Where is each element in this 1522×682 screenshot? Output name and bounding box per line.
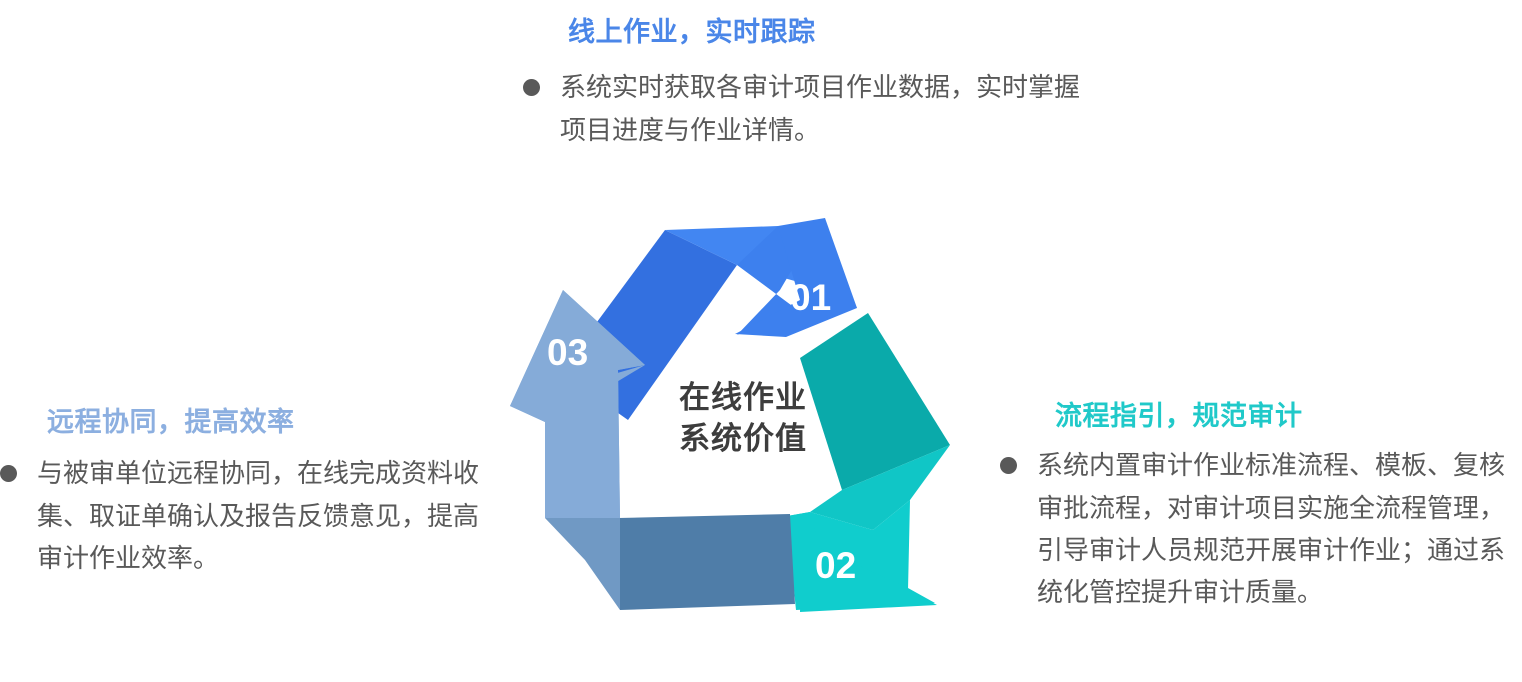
feature-body-row-left: 与被审单位远程协同，在线完成资料收集、取证单确认及报告反馈意见，提高审计作业效率… [0,452,500,578]
feature-title-process-guidance: 流程指引，规范审计 [1055,400,1522,432]
feature-description-online-tracking: 系统实时获取各审计项目作业数据，实时掌握项目进度与作业详情。 [560,66,1083,150]
feature-description-remote-collaboration: 与被审单位远程协同，在线完成资料收集、取证单确认及报告反馈意见，提高审计作业效率… [37,452,500,578]
cycle-arrow-02 [776,313,950,612]
feature-title-remote-collaboration: 远程协同，提高效率 [47,406,500,438]
bullet-dot-icon [1000,457,1017,474]
feature-description-process-guidance: 系统内置审计作业标准流程、模板、复核审批流程，对审计项目实施全流程管理，引导审计… [1037,444,1522,612]
feature-block-online-tracking: 线上作业，实时跟踪 系统实时获取各审计项目作业数据，实时掌握项目进度与作业详情。 [523,16,1083,151]
cycle-arrow-03-body-dark [618,514,795,610]
cycle-center-line-2: 系统价值 [658,419,828,460]
cycle-number-02: 02 [815,545,856,586]
feature-body-row-top: 系统实时获取各审计项目作业数据，实时掌握项目进度与作业详情。 [523,66,1083,150]
feature-title-online-tracking: 线上作业，实时跟踪 [568,16,1083,48]
cycle-center-line-1: 在线作业 [658,378,828,419]
bullet-dot-icon [523,79,540,96]
feature-body-row-right: 系统内置审计作业标准流程、模板、复核审批流程，对审计项目实施全流程管理，引导审计… [1000,444,1522,612]
cycle-diagram: 01 02 03 在线作业 [490,200,990,640]
bullet-dot-icon [0,465,17,482]
cycle-number-01: 01 [790,277,831,318]
cycle-center-label: 在线作业 系统价值 [658,378,828,460]
cycle-arrow-03-tail-shade [545,518,620,610]
feature-block-process-guidance: 流程指引，规范审计 系统内置审计作业标准流程、模板、复核审批流程，对审计项目实施… [1000,400,1522,613]
feature-block-remote-collaboration: 远程协同，提高效率 与被审单位远程协同，在线完成资料收集、取证单确认及报告反馈意… [0,406,500,579]
cycle-number-03: 03 [547,332,588,373]
